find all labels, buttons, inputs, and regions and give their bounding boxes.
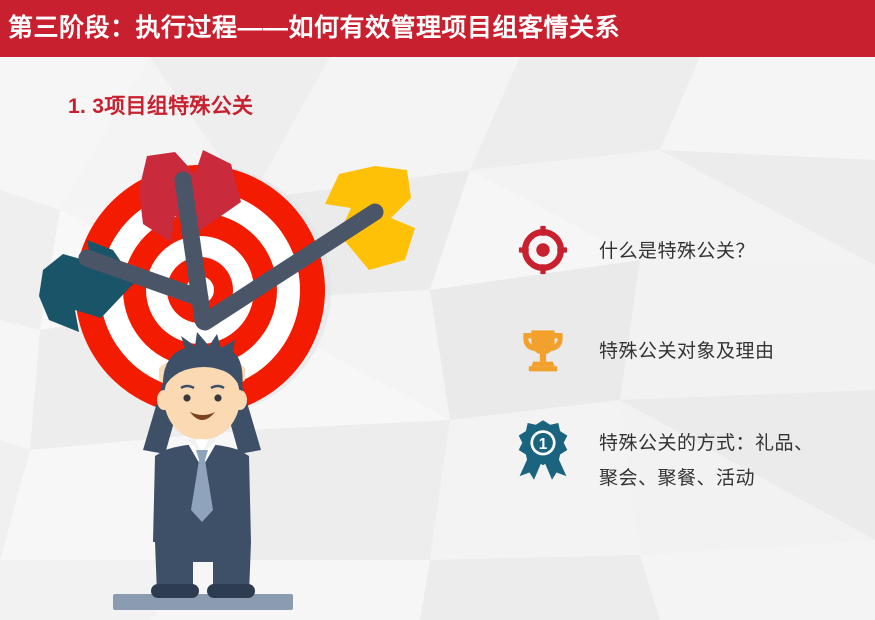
crosshair-target-icon xyxy=(515,222,571,278)
page-title: 第三阶段：执行过程——如何有效管理项目组客情关系 xyxy=(8,16,620,41)
platform xyxy=(113,594,293,610)
list-item-label: 特殊公关对象及理由 xyxy=(599,322,775,369)
list-item[interactable]: 1 特殊公关的方式：礼品、 聚会、聚餐、活动 xyxy=(515,422,865,496)
list-item-label: 什么是特殊公关？ xyxy=(599,222,755,269)
list-item[interactable]: 什么是特殊公关？ xyxy=(515,222,865,278)
right-shoe xyxy=(207,584,255,598)
award-ribbon-badge-icon: 1 xyxy=(515,422,571,478)
bullet-list: 什么是特殊公关？ 特殊公关对象及理由 xyxy=(515,222,865,496)
list-item-label: 特殊公关的方式：礼品、 聚会、聚餐、活动 xyxy=(599,422,814,496)
businessman-holding-target-illustration xyxy=(35,150,415,620)
trophy-icon xyxy=(515,322,571,378)
badge-number: 1 xyxy=(539,436,548,453)
presentation-slide: 第三阶段：执行过程——如何有效管理项目组客情关系 1. 3项目组特殊公关 xyxy=(0,0,875,620)
slide-title-banner: 第三阶段：执行过程——如何有效管理项目组客情关系 xyxy=(0,0,875,57)
section-subtitle: 1. 3项目组特殊公关 xyxy=(68,90,253,120)
list-item[interactable]: 特殊公关对象及理由 xyxy=(515,322,865,378)
left-shoe xyxy=(151,584,199,598)
